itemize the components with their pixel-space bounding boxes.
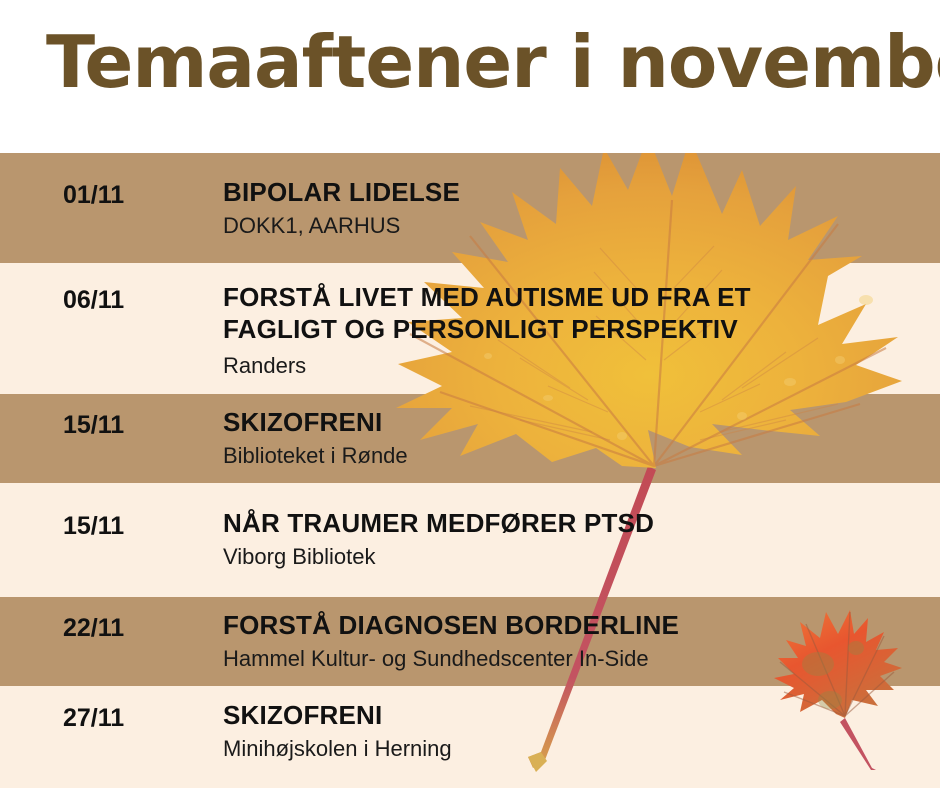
event-venue: Hammel Kultur- og Sundhedscenter In-Side (223, 646, 930, 672)
list-item[interactable]: 15/11 SKIZOFRENI Biblioteket i Rønde (0, 394, 940, 483)
event-title: FORSTÅ DIAGNOSEN BORDERLINE (223, 610, 930, 642)
event-venue: Minihøjskolen i Herning (223, 736, 930, 762)
event-title: SKIZOFRENI (223, 407, 930, 439)
event-title: NÅR TRAUMER MEDFØRER PTSD (223, 508, 930, 540)
event-body: BIPOLAR LIDELSE DOKK1, AARHUS (223, 177, 930, 239)
event-date: 15/11 (63, 512, 124, 541)
event-date: 27/11 (63, 704, 124, 733)
event-body: SKIZOFRENI Minihøjskolen i Herning (223, 700, 930, 762)
event-title: FORSTÅ LIVET MED AUTISME UD FRA ET FAGLI… (223, 282, 823, 345)
list-item[interactable]: 01/11 BIPOLAR LIDELSE DOKK1, AARHUS (0, 153, 940, 263)
page-title: Temaaftener i november (46, 26, 940, 98)
event-date: 15/11 (63, 411, 124, 440)
event-venue: Biblioteket i Rønde (223, 443, 930, 469)
event-date: 01/11 (63, 181, 124, 210)
event-body: FORSTÅ LIVET MED AUTISME UD FRA ET FAGLI… (223, 282, 930, 380)
event-title: SKIZOFRENI (223, 700, 930, 732)
event-title: BIPOLAR LIDELSE (223, 177, 930, 209)
poster-header: Temaaftener i november (0, 0, 940, 153)
event-venue: Randers (223, 353, 930, 379)
list-item[interactable]: 15/11 NÅR TRAUMER MEDFØRER PTSD Viborg B… (0, 483, 940, 597)
list-item[interactable]: 22/11 FORSTÅ DIAGNOSEN BORDERLINE Hammel… (0, 597, 940, 686)
poster: Temaaftener i november 01/11 BIPOLAR LID… (0, 0, 940, 788)
list-item[interactable]: 27/11 SKIZOFRENI Minihøjskolen i Herning (0, 686, 940, 788)
event-body: SKIZOFRENI Biblioteket i Rønde (223, 407, 930, 469)
list-item[interactable]: 06/11 FORSTÅ LIVET MED AUTISME UD FRA ET… (0, 263, 940, 394)
event-date: 06/11 (63, 286, 124, 315)
event-venue: DOKK1, AARHUS (223, 213, 930, 239)
event-body: NÅR TRAUMER MEDFØRER PTSD Viborg Bibliot… (223, 508, 930, 570)
event-body: FORSTÅ DIAGNOSEN BORDERLINE Hammel Kultu… (223, 610, 930, 672)
event-venue: Viborg Bibliotek (223, 544, 930, 570)
event-date: 22/11 (63, 614, 124, 643)
